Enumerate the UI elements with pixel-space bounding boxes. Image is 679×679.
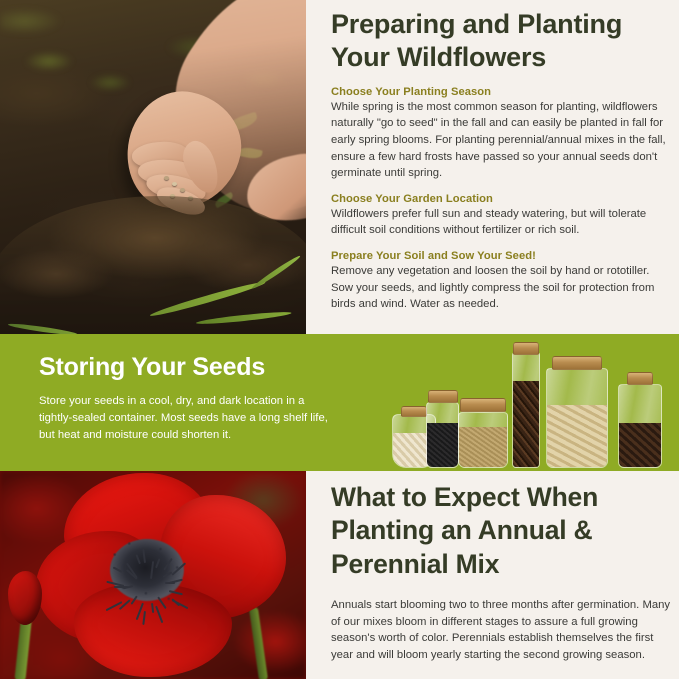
stamen [112, 566, 122, 572]
jar-contents [459, 427, 507, 467]
subsection-title: Choose Your Garden Location [331, 193, 671, 205]
section2-text-column: Storing Your Seeds Store your seeds in a… [39, 353, 331, 444]
infographic-page: Preparing and Planting Your Wildflowers … [0, 0, 679, 679]
subsection-title: Prepare Your Soil and Sow Your Seed! [331, 250, 671, 262]
section1-text-column: Preparing and Planting Your Wildflowers … [331, 8, 671, 324]
section3-text-column: What to Expect When Planting an Annual &… [331, 481, 671, 664]
subsection-prepare-soil: Prepare Your Soil and Sow Your Seed! Rem… [331, 250, 671, 313]
hand-sowing-seeds-photo [0, 0, 306, 334]
jar-tall-speckled [512, 342, 540, 468]
cork-lid-icon [627, 372, 653, 385]
subsection-planting-season: Choose Your Planting Season While spring… [331, 86, 671, 182]
stamen [157, 597, 167, 610]
seed [180, 188, 185, 192]
section3-body: Annuals start blooming two to three mont… [331, 597, 671, 663]
stamen [143, 549, 147, 563]
subsection-body: Remove any vegetation and loosen the soi… [331, 263, 671, 313]
section-storing-your-seeds: Storing Your Seeds Store your seeds in a… [0, 334, 679, 471]
cork-lid-icon [513, 342, 539, 355]
jar-contents [619, 423, 661, 467]
cork-lid-icon [428, 390, 458, 403]
jar-black-seeds [426, 390, 459, 468]
jar-tan-grain [458, 398, 508, 468]
jar-glass [618, 384, 662, 468]
stamen [169, 579, 183, 584]
jar-dark-beans [618, 372, 662, 468]
subsection-garden-location: Choose Your Garden Location Wildflowers … [331, 193, 671, 239]
seed [164, 176, 169, 180]
stamen [169, 590, 183, 595]
subsection-title: Choose Your Planting Season [331, 86, 671, 98]
cork-lid-icon [401, 406, 427, 417]
jar-contents [513, 381, 539, 467]
jar-glass [458, 412, 508, 468]
stamen [163, 558, 173, 571]
section-what-to-expect: What to Expect When Planting an Annual &… [0, 471, 679, 679]
jar-large-pumpkin-seeds [546, 356, 608, 468]
stamen-cluster [96, 527, 200, 619]
cork-lid-icon [552, 356, 602, 370]
stamen [131, 596, 138, 605]
section3-heading: What to Expect When Planting an Annual &… [331, 481, 671, 581]
section2-body: Store your seeds in a cool, dry, and dar… [39, 393, 331, 444]
subsection-body: Wildflowers prefer full sun and steady w… [331, 206, 671, 239]
section-preparing-and-planting: Preparing and Planting Your Wildflowers … [0, 0, 679, 334]
section2-heading: Storing Your Seeds [39, 353, 331, 382]
section1-heading: Preparing and Planting Your Wildflowers [331, 8, 671, 74]
jar-contents [547, 405, 607, 467]
seed-jars-photo [392, 338, 668, 468]
jar-glass [512, 352, 540, 468]
stamen [135, 554, 140, 564]
jar-contents [427, 423, 458, 467]
jar-glass [426, 402, 459, 468]
stamen [156, 558, 161, 568]
stamen [172, 562, 187, 575]
red-poppy-photo [0, 471, 306, 679]
seed [172, 182, 177, 186]
jar-glass [546, 368, 608, 468]
cork-lid-icon [460, 398, 506, 412]
subsection-body: While spring is the most common season f… [331, 99, 671, 182]
stamen [151, 603, 154, 613]
stamen [150, 561, 154, 579]
